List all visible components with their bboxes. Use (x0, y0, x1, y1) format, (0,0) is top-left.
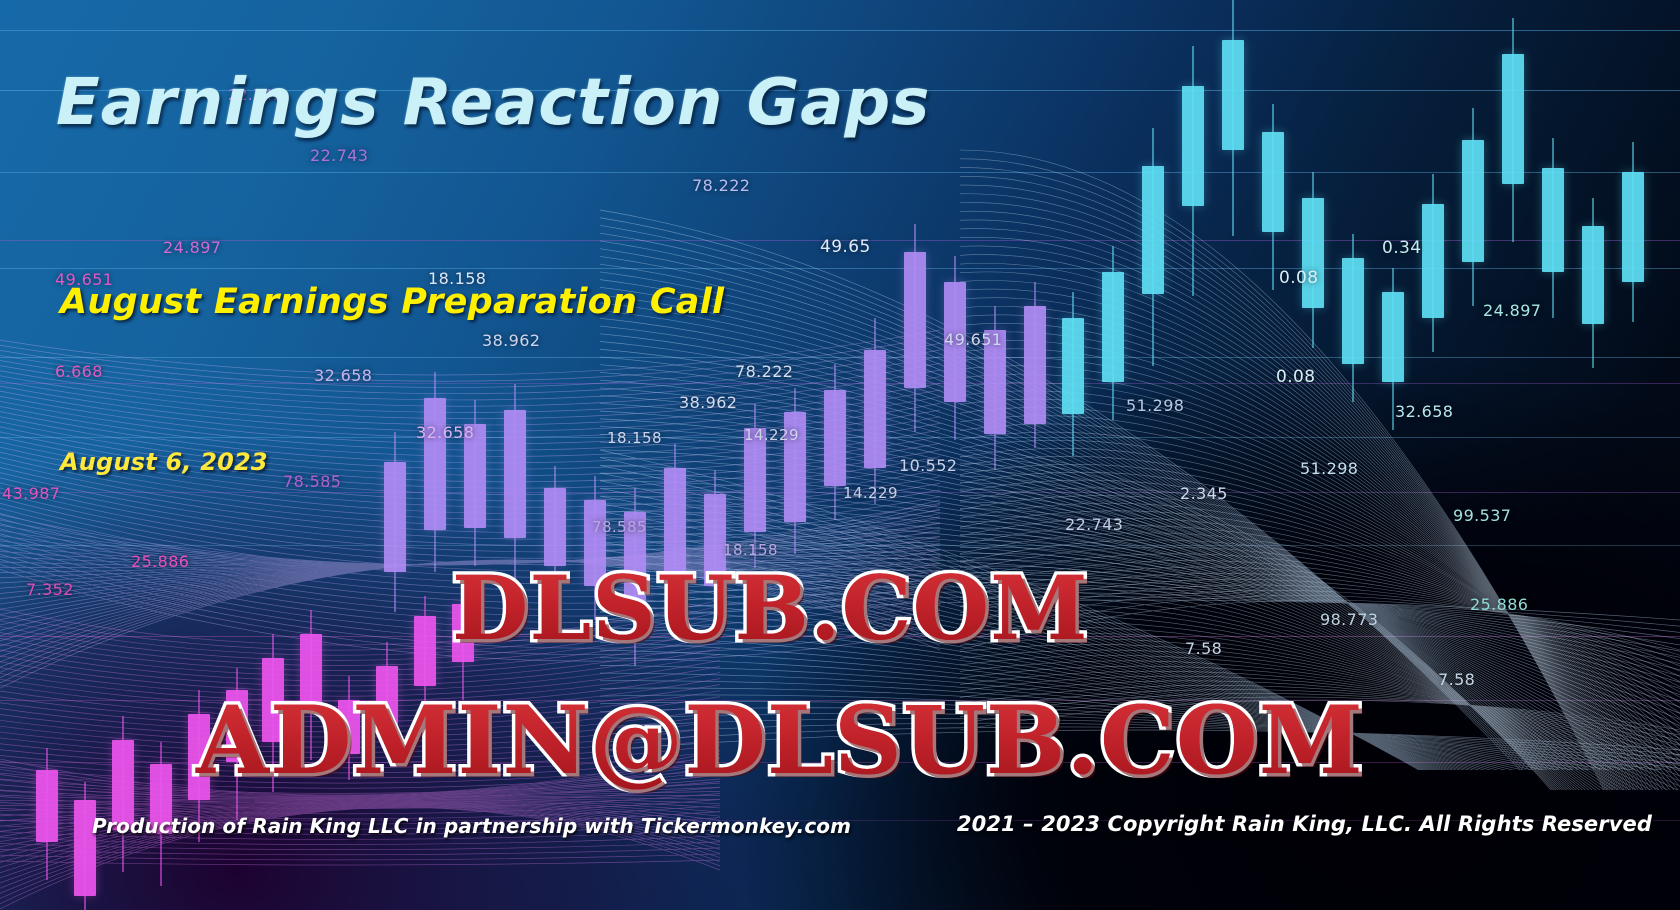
candlestick (1342, 234, 1364, 402)
price-label: 49.65 (820, 237, 871, 257)
price-label: 2.345 (1180, 484, 1228, 503)
price-label: 10.552 (899, 456, 957, 475)
gridline (0, 383, 1680, 384)
price-label: 51.298 (1300, 459, 1358, 478)
candle-body (1582, 226, 1604, 324)
gridline (0, 492, 1680, 493)
price-label: 14.229 (744, 426, 799, 444)
candlestick (1382, 268, 1404, 430)
candlestick (1102, 246, 1124, 420)
candle-wick (1472, 108, 1474, 306)
candle-body (1182, 86, 1204, 206)
candle-wick (1392, 268, 1394, 430)
candle-body (784, 412, 806, 522)
candle-wick (954, 256, 956, 440)
price-label: 18.158 (607, 429, 662, 447)
footer-production-credit: Production of Rain King LLC in partnersh… (92, 814, 851, 838)
price-label: 32.658 (1395, 402, 1453, 421)
slide-subtitle: August Earnings Preparation Call (60, 282, 724, 322)
candle-wick (1192, 46, 1194, 296)
candlestick (1462, 108, 1484, 306)
slide-date: August 6, 2023 (60, 448, 268, 476)
candle-body (1102, 272, 1124, 382)
candlestick (424, 372, 446, 572)
candlestick (112, 716, 134, 872)
price-label: 43.987 (2, 484, 60, 503)
candle-body (984, 330, 1006, 434)
price-label: 98.773 (1320, 610, 1378, 629)
candlestick (74, 782, 96, 910)
candle-wick (914, 224, 916, 432)
candlestick (1024, 282, 1046, 448)
candlestick (904, 224, 926, 432)
candle-body (1622, 172, 1644, 282)
price-label: 78.585 (283, 472, 341, 491)
candlestick (1262, 104, 1284, 290)
price-label: 78.222 (735, 362, 793, 381)
candle-wick (1312, 172, 1314, 348)
candle-body (1542, 168, 1564, 272)
price-label: 7.352 (26, 580, 74, 599)
candle-body (424, 398, 446, 530)
candle-wick (1034, 282, 1036, 448)
price-label: 0.08 (1276, 367, 1315, 387)
candle-wick (754, 404, 756, 568)
candle-wick (1432, 174, 1434, 352)
candlestick (784, 388, 806, 554)
candle-wick (514, 384, 516, 580)
candle-body (36, 770, 58, 842)
price-label: 25.886 (131, 552, 189, 571)
candle-wick (1152, 128, 1154, 366)
candle-body (1302, 198, 1324, 308)
candlestick (36, 748, 58, 880)
candle-body (824, 390, 846, 486)
price-label: 7.58 (1185, 639, 1222, 658)
candlestick (1142, 128, 1164, 366)
candlestick (984, 306, 1006, 470)
candlestick (504, 384, 526, 580)
candlestick (1302, 172, 1324, 348)
candlestick (1502, 18, 1524, 242)
candle-body (1462, 140, 1484, 262)
candlestick (1182, 46, 1204, 296)
gridline (0, 357, 1680, 358)
candle-wick (434, 372, 436, 572)
page-title: Earnings Reaction Gaps (56, 66, 930, 140)
candle-wick (1552, 138, 1554, 318)
price-label: 22.743 (1065, 515, 1123, 534)
price-label: 51.298 (1126, 396, 1184, 415)
candle-wick (794, 388, 796, 554)
gridline (0, 172, 1680, 173)
candle-wick (834, 364, 836, 520)
watermark-dlsub: DLSUB.COM (452, 556, 1089, 660)
candle-body (1024, 306, 1046, 424)
price-label: 0.34 (1382, 238, 1421, 258)
candle-wick (122, 716, 124, 872)
price-label: 78.222 (692, 176, 750, 195)
candle-body (1502, 54, 1524, 184)
price-label: 24.897 (163, 238, 221, 257)
price-label: 32.658 (416, 423, 474, 442)
price-label: 99.537 (1453, 506, 1511, 525)
candle-wick (84, 782, 86, 910)
candle-body (1342, 258, 1364, 364)
price-label: 32.658 (314, 366, 372, 385)
presentation-slide: 22.74322.74378.22224.89749.65118.15849.6… (0, 0, 1680, 910)
price-label: 14.229 (843, 484, 898, 502)
candlestick (1422, 174, 1444, 352)
price-label: 0.08 (1279, 268, 1318, 288)
candle-wick (1632, 142, 1634, 322)
candle-body (864, 350, 886, 468)
gridline (0, 268, 1680, 269)
candle-body (464, 424, 486, 528)
candlestick (1062, 292, 1084, 456)
wireframe-mesh-right (960, 30, 1680, 790)
candle-wick (874, 318, 876, 504)
price-label: 6.668 (55, 362, 103, 381)
candle-body (1142, 166, 1164, 294)
gridline (0, 545, 1680, 546)
candle-body (504, 410, 526, 538)
candlestick (744, 404, 766, 568)
price-label: 49.651 (944, 330, 1002, 349)
candle-wick (1512, 18, 1514, 242)
price-label: 7.58 (1438, 670, 1475, 689)
candle-wick (1272, 104, 1274, 290)
candle-body (904, 252, 926, 388)
candlestick (1582, 198, 1604, 368)
candlestick (1622, 142, 1644, 322)
candle-body (1222, 40, 1244, 150)
candle-wick (1072, 292, 1074, 456)
candlestick (384, 432, 406, 612)
price-label: 78.585 (592, 518, 647, 536)
candle-wick (1592, 198, 1594, 368)
candle-body (944, 282, 966, 402)
candlestick (944, 256, 966, 440)
gridline (0, 30, 1680, 31)
price-label: 22.743 (310, 146, 368, 165)
candle-wick (1112, 246, 1114, 420)
candlestick (824, 364, 846, 520)
candle-wick (474, 400, 476, 566)
candle-body (414, 616, 436, 686)
price-label: 25.886 (1470, 595, 1528, 614)
candle-wick (1232, 0, 1234, 236)
candlestick (1542, 138, 1564, 318)
candle-body (1262, 132, 1284, 232)
candle-body (1422, 204, 1444, 318)
candle-wick (994, 306, 996, 470)
candle-body (1062, 318, 1084, 414)
footer-copyright: 2021 – 2023 Copyright Rain King, LLC. Al… (957, 812, 1652, 836)
price-label: 38.962 (482, 331, 540, 350)
candle-wick (46, 748, 48, 880)
watermark-admin-email: ADMIN@DLSUB.COM (196, 686, 1364, 796)
candlestick (1222, 0, 1244, 236)
price-label: 38.962 (679, 393, 737, 412)
wireframe-mesh-center (600, 150, 1680, 770)
candle-wick (394, 432, 396, 612)
candle-body (544, 488, 566, 566)
candle-body (384, 462, 406, 572)
candle-wick (1352, 234, 1354, 402)
candle-body (744, 428, 766, 532)
price-label: 24.897 (1483, 301, 1541, 320)
candle-body (1382, 292, 1404, 382)
gridline (0, 240, 1680, 241)
candlestick (464, 400, 486, 566)
gridline (0, 437, 1680, 438)
candlestick (864, 318, 886, 504)
